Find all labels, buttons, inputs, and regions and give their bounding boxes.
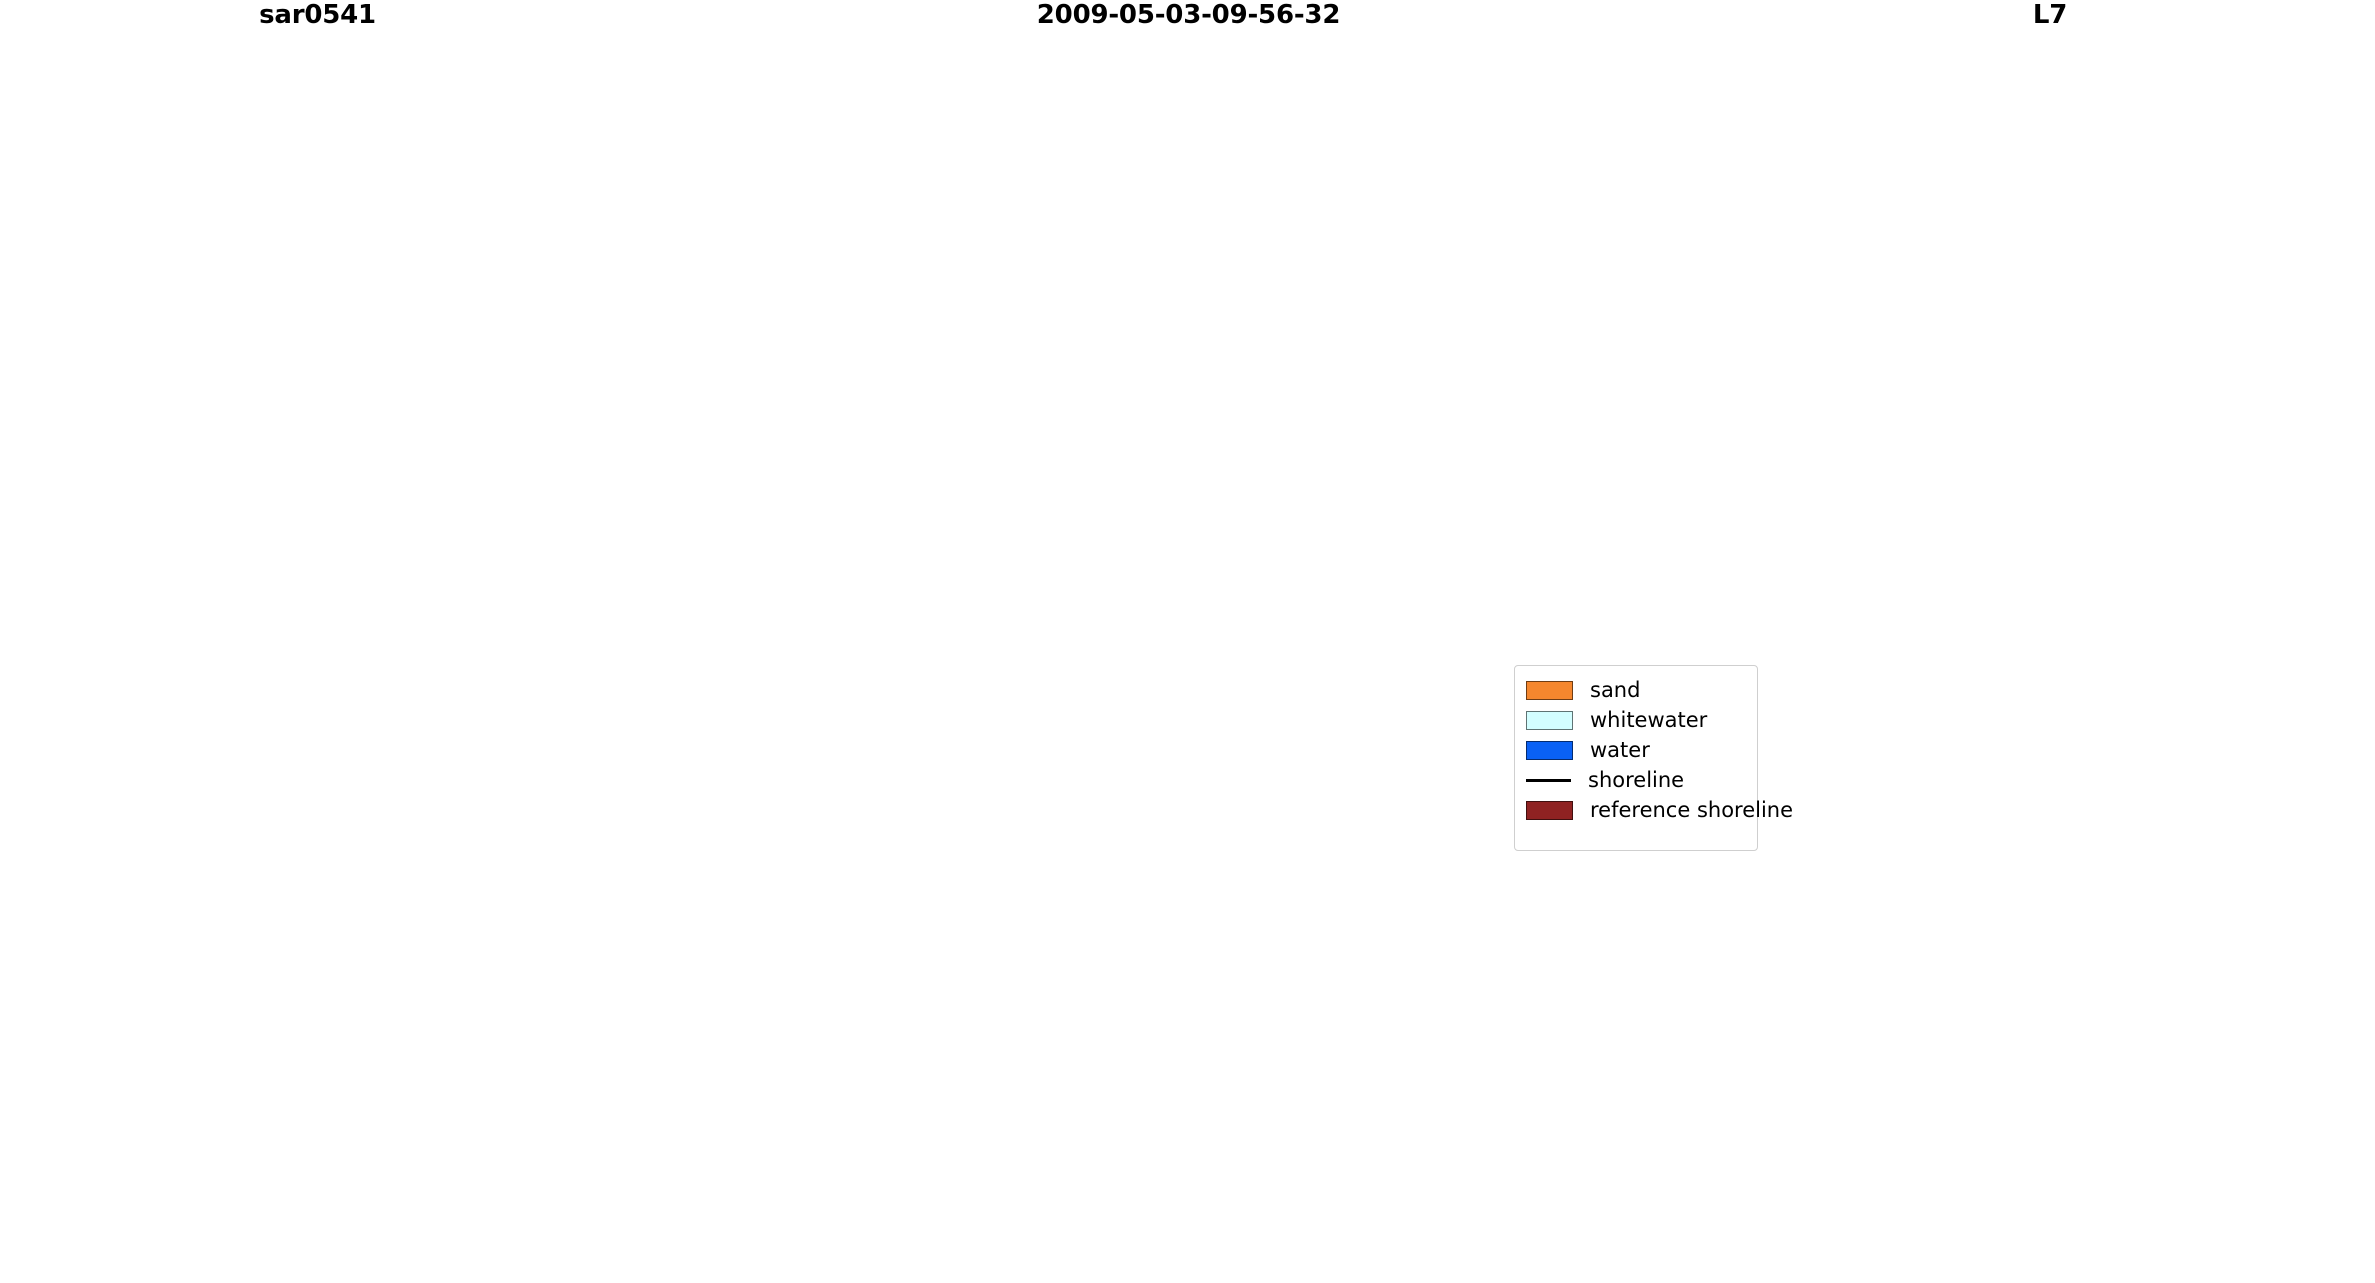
legend-swatch-icon xyxy=(1526,681,1573,700)
panel-sar0541: sar0541 xyxy=(0,0,635,1283)
figure-canvas: sar0541 2009-05-03-09-56-32 L7 sandwhite… xyxy=(0,0,2375,1283)
legend-row-reference: reference shoreline xyxy=(1526,795,1747,825)
legend-swatch-icon xyxy=(1526,779,1571,782)
legend-row-whitewater: whitewater xyxy=(1526,705,1747,735)
legend-label: whitewater xyxy=(1590,708,1707,732)
legend-row-water: water xyxy=(1526,735,1747,765)
panel-classified: 2009-05-03-09-56-32 xyxy=(860,0,1517,1283)
l7-raster-image xyxy=(1735,48,2355,1272)
sar-raster-image xyxy=(13,48,621,1272)
panel-title-sar: sar0541 xyxy=(0,0,635,30)
panel-title-l7: L7 xyxy=(1725,0,2375,30)
legend-swatch-icon xyxy=(1526,741,1573,760)
legend-row-sand: sand xyxy=(1526,675,1747,705)
legend-row-shoreline: shoreline xyxy=(1526,765,1747,795)
legend-box: sandwhitewaterwatershorelinereference sh… xyxy=(1514,665,1758,851)
legend-label: shoreline xyxy=(1588,768,1684,792)
legend-label: reference shoreline xyxy=(1590,798,1793,822)
legend-label: water xyxy=(1590,738,1650,762)
panel-l7: L7 xyxy=(1725,0,2375,1283)
legend-swatch-icon xyxy=(1526,801,1573,820)
legend-label: sand xyxy=(1590,678,1640,702)
panel-title-classified: 2009-05-03-09-56-32 xyxy=(860,0,1517,30)
classified-raster-image xyxy=(874,48,1503,1272)
legend-swatch-icon xyxy=(1526,711,1573,730)
